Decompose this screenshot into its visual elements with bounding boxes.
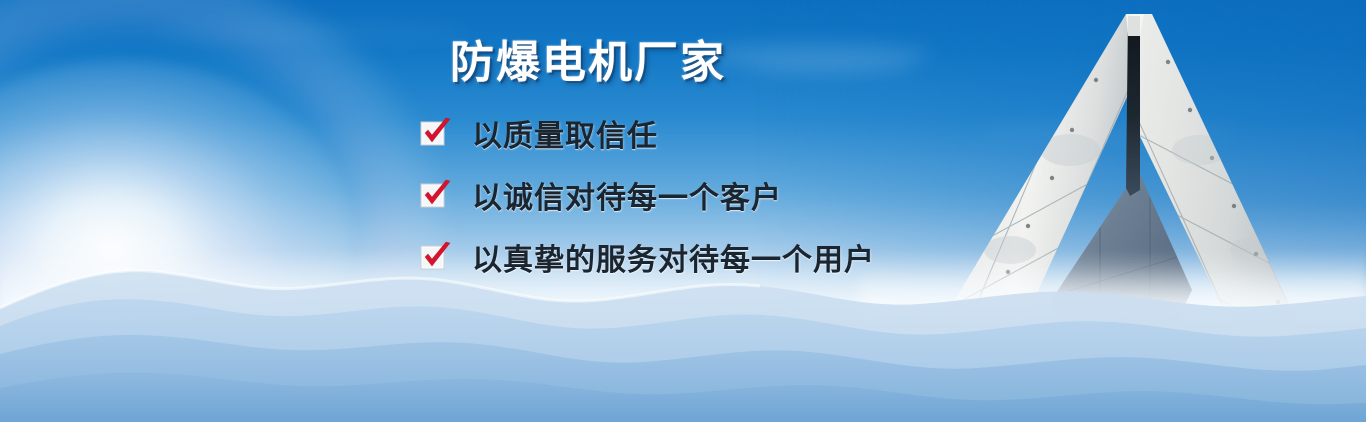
- feature-list: 以质量取信任 以诚信对待每一个客户: [420, 102, 875, 288]
- cloud-wisp: [745, 60, 915, 76]
- monument-seam: [1126, 16, 1140, 196]
- promo-banner: 防爆电机厂家 以质量取信任: [0, 0, 1366, 422]
- red-check-icon: [420, 182, 446, 208]
- list-item-label: 以真挚的服务对待每一个用户: [472, 235, 875, 279]
- red-check-icon: [420, 120, 446, 146]
- list-item: 以诚信对待每一个客户: [420, 164, 875, 226]
- page-title: 防爆电机厂家: [450, 26, 726, 90]
- list-item: 以真挚的服务对待每一个用户: [420, 226, 875, 288]
- list-item-label: 以质量取信任: [472, 111, 658, 155]
- cloud-wisp: [150, 22, 470, 42]
- red-check-icon: [420, 244, 446, 270]
- list-item-label: 以诚信对待每一个客户: [472, 173, 782, 217]
- list-item: 以质量取信任: [420, 102, 875, 164]
